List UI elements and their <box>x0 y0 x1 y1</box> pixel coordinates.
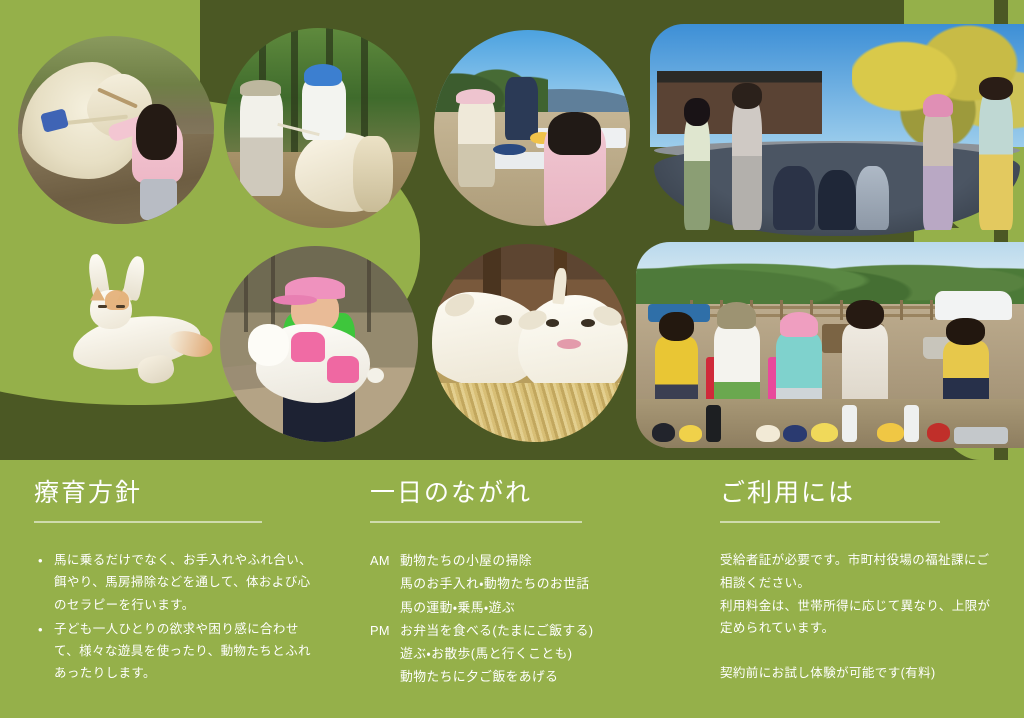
policy-divider <box>34 521 262 523</box>
schedule-time-label <box>370 642 400 665</box>
photo-cat-cutout <box>60 248 210 398</box>
schedule-time-label: PM <box>370 619 400 642</box>
schedule-activity: 動物たちの小屋の掃除 <box>400 549 676 572</box>
photo-trampoline <box>650 24 1024 236</box>
schedule-list: AM 動物たちの小屋の掃除 馬のお手入れ・動物たちのお世話 馬の運動・乗馬・遊ぶ… <box>370 549 676 689</box>
schedule-heading: 一日のながれ <box>370 478 676 508</box>
schedule-divider <box>370 521 582 523</box>
photo-girl-with-cat <box>220 246 418 442</box>
usage-divider <box>720 521 940 523</box>
schedule-row: 馬の運動・乗馬・遊ぶ <box>370 596 676 619</box>
schedule-row: 遊ぶ・お散歩(馬と行くことも) <box>370 642 676 665</box>
column-schedule: 一日のながれ AM 動物たちの小屋の掃除 馬のお手入れ・動物たちのお世話 馬の運… <box>350 460 700 718</box>
list-item: 馬に乗るだけでなく、お手入れやふれ合い、餌やり、馬房掃除などを通して、体および心… <box>34 549 316 616</box>
photo-picnic-lunch <box>636 242 1024 448</box>
column-usage: ご利用には 受給者証が必要です。市町村役場の福祉課にご相談ください。 利用料金は… <box>700 460 1024 718</box>
bottom-white-strip <box>0 718 1024 724</box>
schedule-activity: 馬の運動・乗馬・遊ぶ <box>400 596 676 619</box>
schedule-row: AM 動物たちの小屋の掃除 <box>370 549 676 572</box>
schedule-activity: お弁当を食べる(たまにご飯する) <box>400 619 676 642</box>
schedule-activity: 動物たちに夕ご飯をあげる <box>400 665 676 688</box>
schedule-activity: 遊ぶ・お散歩(馬と行くことも) <box>400 642 676 665</box>
schedule-row: 動物たちに夕ご飯をあげる <box>370 665 676 688</box>
policy-heading: 療育方針 <box>34 478 316 508</box>
usage-heading: ご利用には <box>720 478 994 508</box>
schedule-time-label <box>370 596 400 619</box>
policy-bullet-list: 馬に乗るだけでなく、お手入れやふれ合い、餌やり、馬房掃除などを通して、体および心… <box>34 549 316 685</box>
schedule-time-label <box>370 665 400 688</box>
list-item: 子ども一人ひとりの欲求や困り感に合わせて、様々な遊具を使ったり、動物たちとふれあ… <box>34 618 316 685</box>
usage-paragraph: 利用料金は、世帯所得に応じて異なり、上限が定められています。 <box>720 595 994 641</box>
schedule-row: PM お弁当を食べる(たまにご飯する) <box>370 619 676 642</box>
poster-page: 療育方針 馬に乗るだけでなく、お手入れやふれ合い、餌やり、馬房掃除などを通して、… <box>0 0 1024 724</box>
schedule-activity: 馬のお手入れ・動物たちのお世話 <box>400 572 676 595</box>
schedule-time-label <box>370 572 400 595</box>
usage-paragraph: 契約前にお試し体験が可能です(有料) <box>720 662 994 685</box>
schedule-row: 馬のお手入れ・動物たちのお世話 <box>370 572 676 595</box>
column-policy: 療育方針 馬に乗るだけでなく、お手入れやふれ合い、餌やり、馬房掃除などを通して、… <box>0 460 350 718</box>
info-columns: 療育方針 馬に乗るだけでなく、お手入れやふれ合い、餌やり、馬房掃除などを通して、… <box>0 460 1024 718</box>
photo-pony-riding <box>224 28 420 228</box>
photo-outdoor-lunch <box>434 30 630 226</box>
photo-goats <box>432 244 628 442</box>
schedule-time-label: AM <box>370 549 400 572</box>
usage-paragraph: 受給者証が必要です。市町村役場の福祉課にご相談ください。 <box>720 549 994 595</box>
photo-horse-and-girl <box>18 36 214 224</box>
